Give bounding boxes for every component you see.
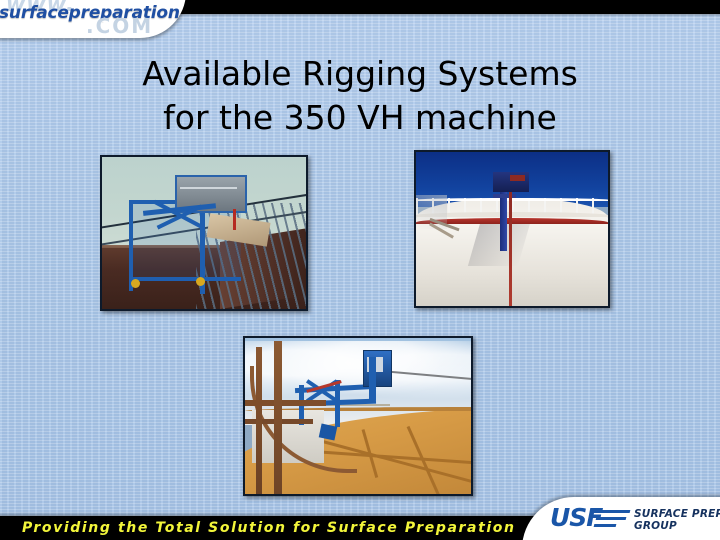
photo3-rust-post-b [256,347,262,494]
photo3-rig-mast [369,357,376,401]
photo2-scene [416,152,608,306]
usf-stripe-2 [596,517,627,520]
photo1-rig-post-left [129,200,133,291]
photo1-caster-left [131,279,140,288]
photo3-rig-post-b [335,380,340,427]
slide-title-line2: for the 350 VH machine [0,96,720,140]
photo1-scene [102,157,306,309]
slide-title-line1: Available Rigging Systems [142,54,578,93]
photo-rig-on-tank-roof [243,336,473,496]
website-logo-plate: www. surfacepreparation .COM [0,0,186,38]
usf-logo-text: USF [550,505,602,531]
footer-tagline: Providing the Total Solution for Surface… [22,518,516,538]
photo-rig-on-rusty-tank-edge [100,155,308,311]
photo1-caster-right [196,277,205,286]
usf-stripe-1 [592,510,631,513]
photo2-red-hose [509,192,512,306]
photo3-rust-post-a [274,341,282,494]
photo1-machine-detail [180,187,237,189]
slide-title: Available Rigging Systems for the 350 VH… [0,52,720,139]
presentation-slide: www. surfacepreparation .COM Available R… [0,0,720,540]
usf-brand-plate: USF SURFACE PREPARATION GROUP [522,497,720,540]
photo-rig-on-white-tank [414,150,610,308]
usf-stripe-3 [594,524,617,527]
photo3-scene [245,338,471,494]
usf-brand-line1: SURFACE PREPARATION [634,508,720,520]
usf-logo-mark: USF [550,506,628,532]
usf-brand-name: SURFACE PREPARATION GROUP [634,508,720,532]
photo2-rig-head-marking [510,175,525,181]
usf-brand-line2: GROUP [634,520,720,532]
photo1-red-hose [233,209,236,230]
logo-com-text: .COM [86,16,153,36]
photo2-rig-crossbar [493,194,516,198]
